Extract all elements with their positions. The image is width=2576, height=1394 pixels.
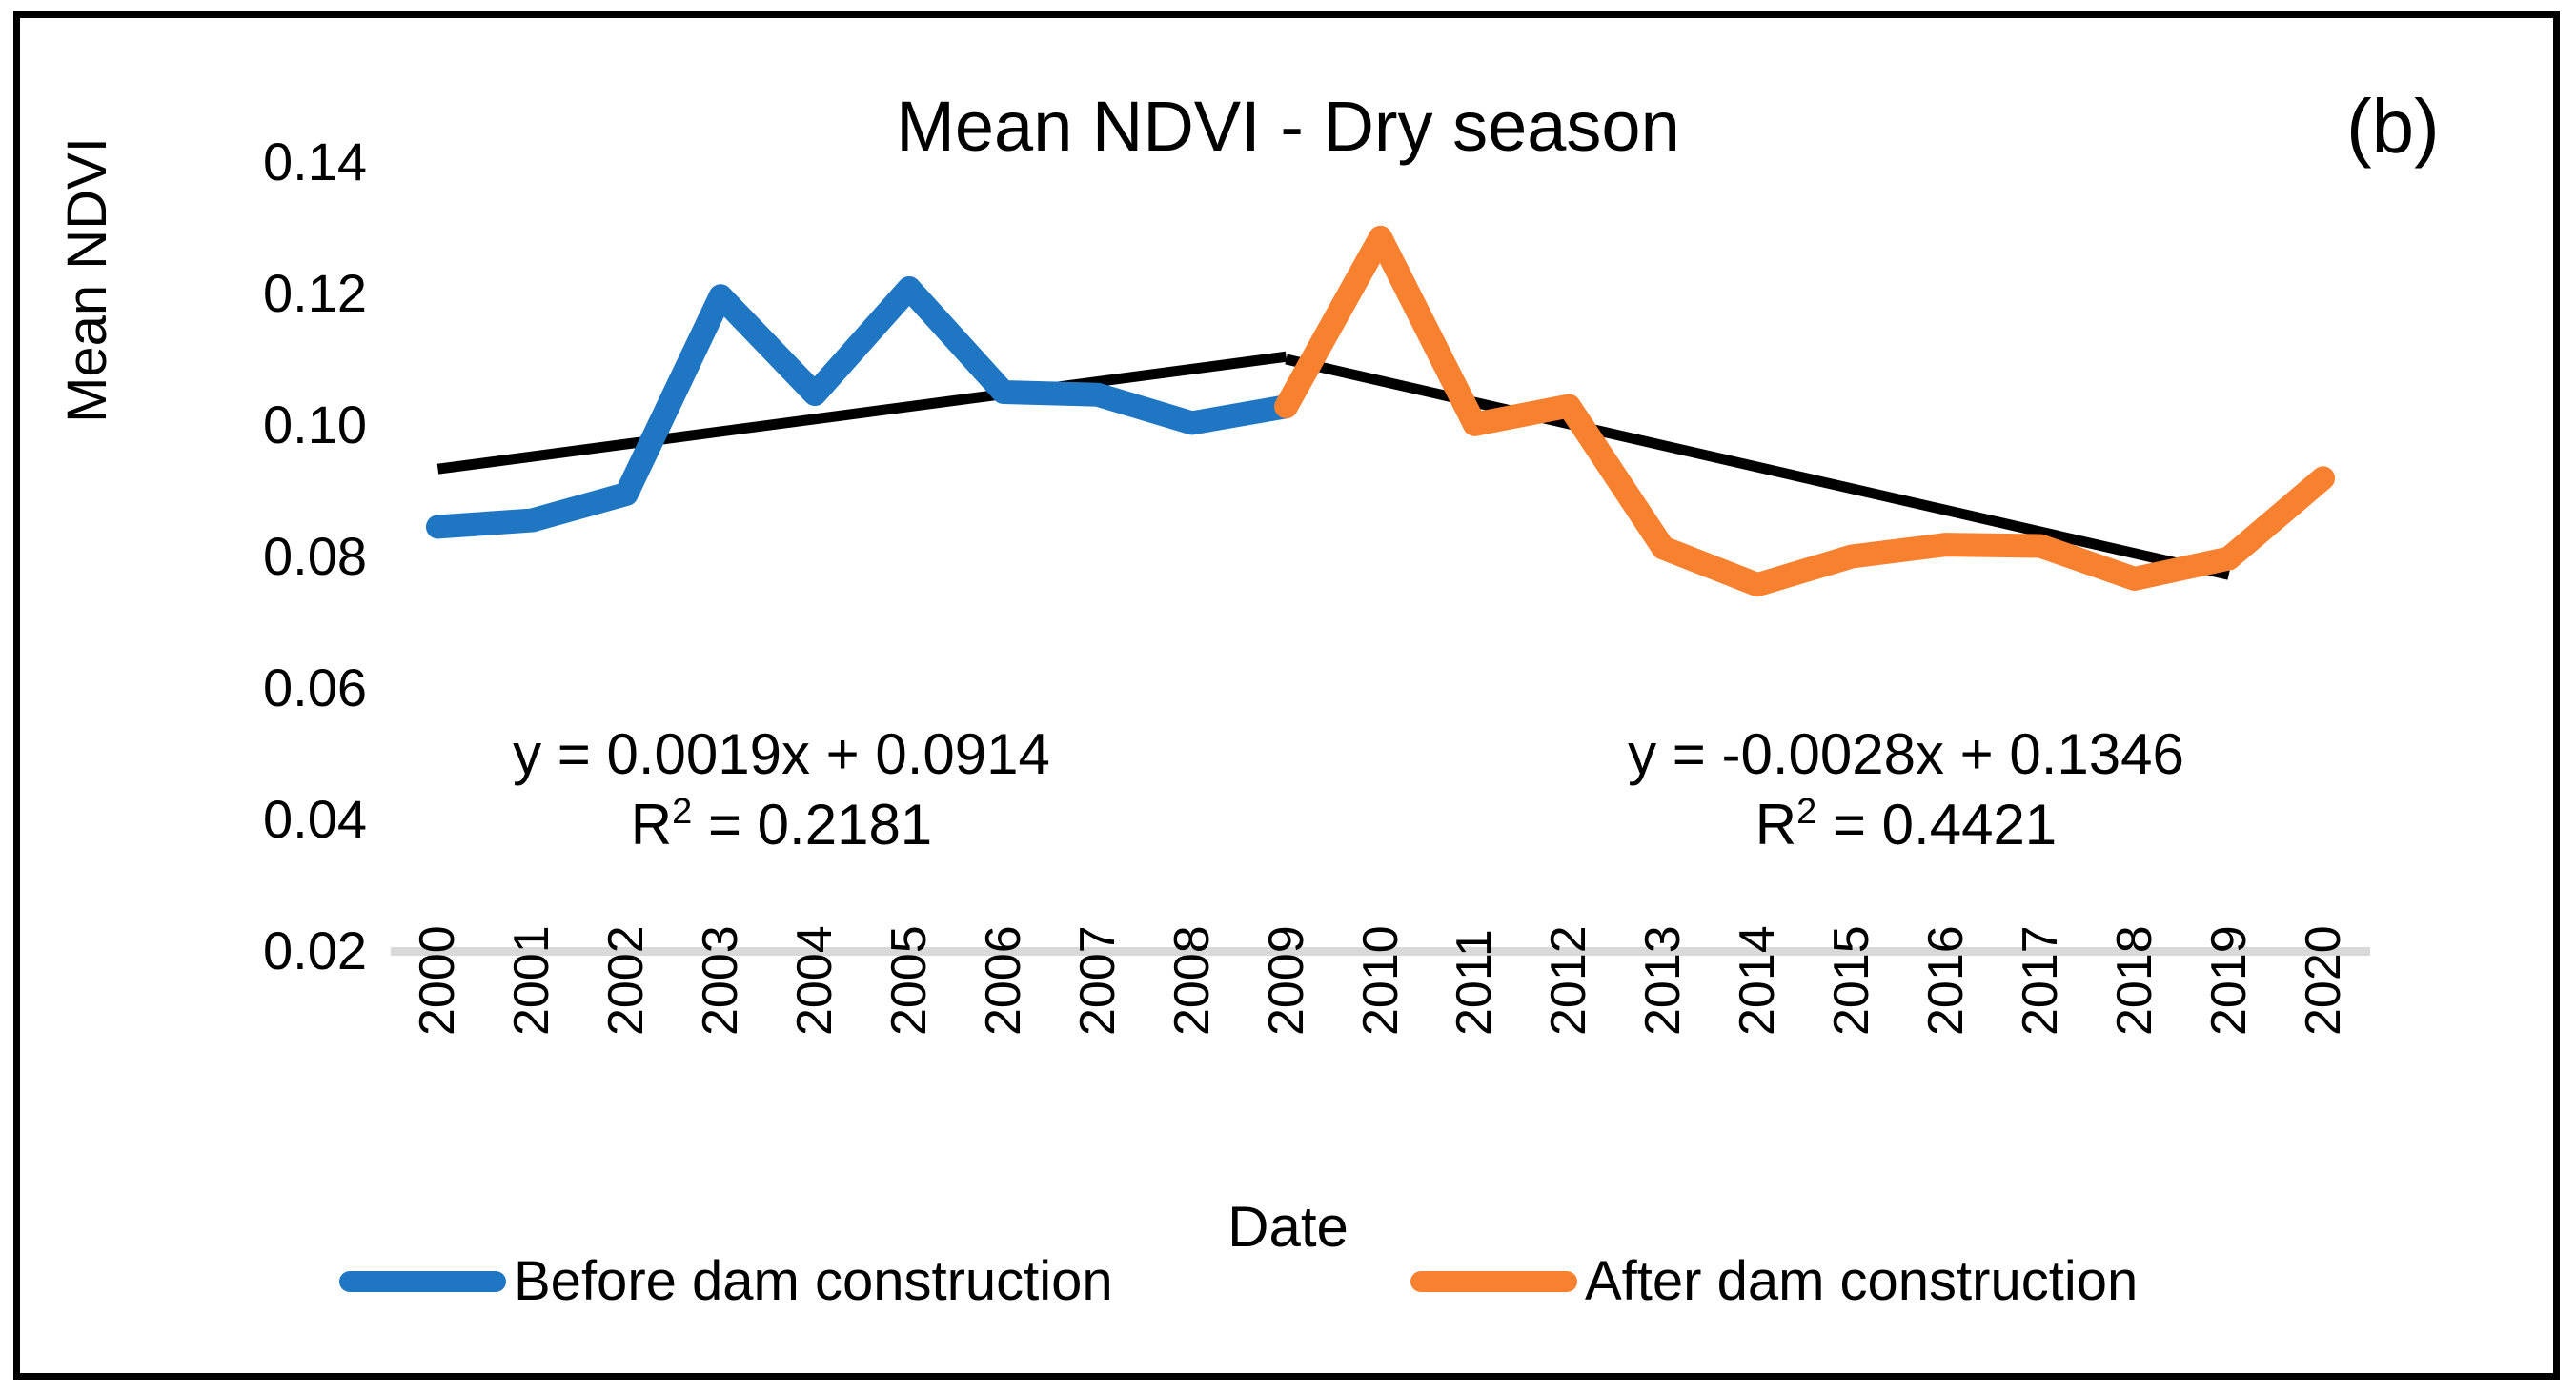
r-squared-line-after: R2 = 0.4421 [1496, 790, 2316, 860]
legend-item-before[interactable]: Before dam construction [339, 1239, 1113, 1324]
x-axis-tick-label: 2019 [2202, 982, 2256, 1036]
x-axis-tick-label: 2018 [2108, 982, 2161, 1036]
y-axis-tick-label: 0.10 [148, 398, 367, 452]
trendline-equation-before: y = 0.0019x + 0.0914 R2 = 0.2181 [400, 719, 1163, 860]
trendline-equation-after: y = -0.0028x + 0.1346 R2 = 0.4421 [1496, 719, 2316, 860]
r-symbol-before: R [631, 793, 672, 857]
series-line [1287, 237, 2323, 584]
legend-item-after[interactable]: After dam construction [1410, 1239, 2138, 1324]
legend-label-before: Before dam construction [514, 1254, 1113, 1309]
x-axis-tick-label: 2020 [2297, 982, 2350, 1036]
y-axis-tick-labels: 0.140.120.100.080.060.040.02 [148, 0, 367, 1394]
x-axis-tick-label: 2007 [1071, 982, 1125, 1036]
y-axis-title: Mean NDVI [57, 80, 118, 480]
x-axis-tick-label: 2009 [1260, 982, 1313, 1036]
x-axis-tick-label: 2003 [694, 982, 747, 1036]
r-value-after: = 0.4421 [1816, 793, 2057, 857]
x-axis-tick-label: 2016 [1919, 982, 1973, 1036]
x-axis-tick-label: 2005 [882, 982, 936, 1036]
x-axis-tick-label: 2014 [1731, 982, 1784, 1036]
chart-legend: Before dam construction After dam constr… [0, 1239, 2576, 1324]
chart-title: Mean NDVI - Dry season [0, 91, 2576, 162]
x-axis-tick-label: 2008 [1166, 982, 1219, 1036]
x-axis-tick-label: 2015 [1825, 982, 1878, 1036]
equation-line-before: y = 0.0019x + 0.0914 [400, 719, 1163, 790]
chart-figure: Mean NDVI - Dry season (b) Mean NDVI 0.1… [0, 0, 2576, 1394]
y-axis-tick-label: 0.12 [148, 267, 367, 320]
panel-label: (b) [2346, 89, 2440, 165]
y-axis-tick-label: 0.04 [148, 793, 367, 846]
legend-swatch-after-icon [1410, 1271, 1577, 1292]
x-axis-tick-label: 2006 [977, 982, 1030, 1036]
r-exponent-before: 2 [672, 792, 692, 832]
legend-swatch-before-icon [339, 1271, 506, 1292]
x-axis-tick-labels: 2000200120022003200420052006200720082009… [391, 956, 2370, 1175]
trendline [1287, 359, 2229, 575]
x-axis-tick-label: 2010 [1354, 982, 1408, 1036]
y-axis-tick-label: 0.06 [148, 661, 367, 715]
equation-line-after: y = -0.0028x + 0.1346 [1496, 719, 2316, 790]
r-squared-line-before: R2 = 0.2181 [400, 790, 1163, 860]
y-axis-tick-label: 0.02 [148, 924, 367, 978]
legend-label-after: After dam construction [1585, 1254, 2138, 1309]
x-axis-tick-label: 2002 [599, 982, 653, 1036]
x-axis-tick-label: 2012 [1542, 982, 1595, 1036]
y-axis-tick-label: 0.08 [148, 530, 367, 583]
x-axis-tick-label: 2011 [1448, 982, 1501, 1036]
x-axis-tick-label: 2017 [2014, 982, 2067, 1036]
x-axis-tick-label: 2000 [411, 982, 464, 1036]
r-symbol-after: R [1755, 793, 1796, 857]
r-exponent-after: 2 [1796, 792, 1816, 832]
x-axis-tick-label: 2001 [505, 982, 558, 1036]
y-axis-tick-label: 0.14 [148, 135, 367, 189]
r-value-before: = 0.2181 [692, 793, 932, 857]
x-axis-tick-label: 2013 [1636, 982, 1690, 1036]
x-axis-tick-label: 2004 [788, 982, 842, 1036]
